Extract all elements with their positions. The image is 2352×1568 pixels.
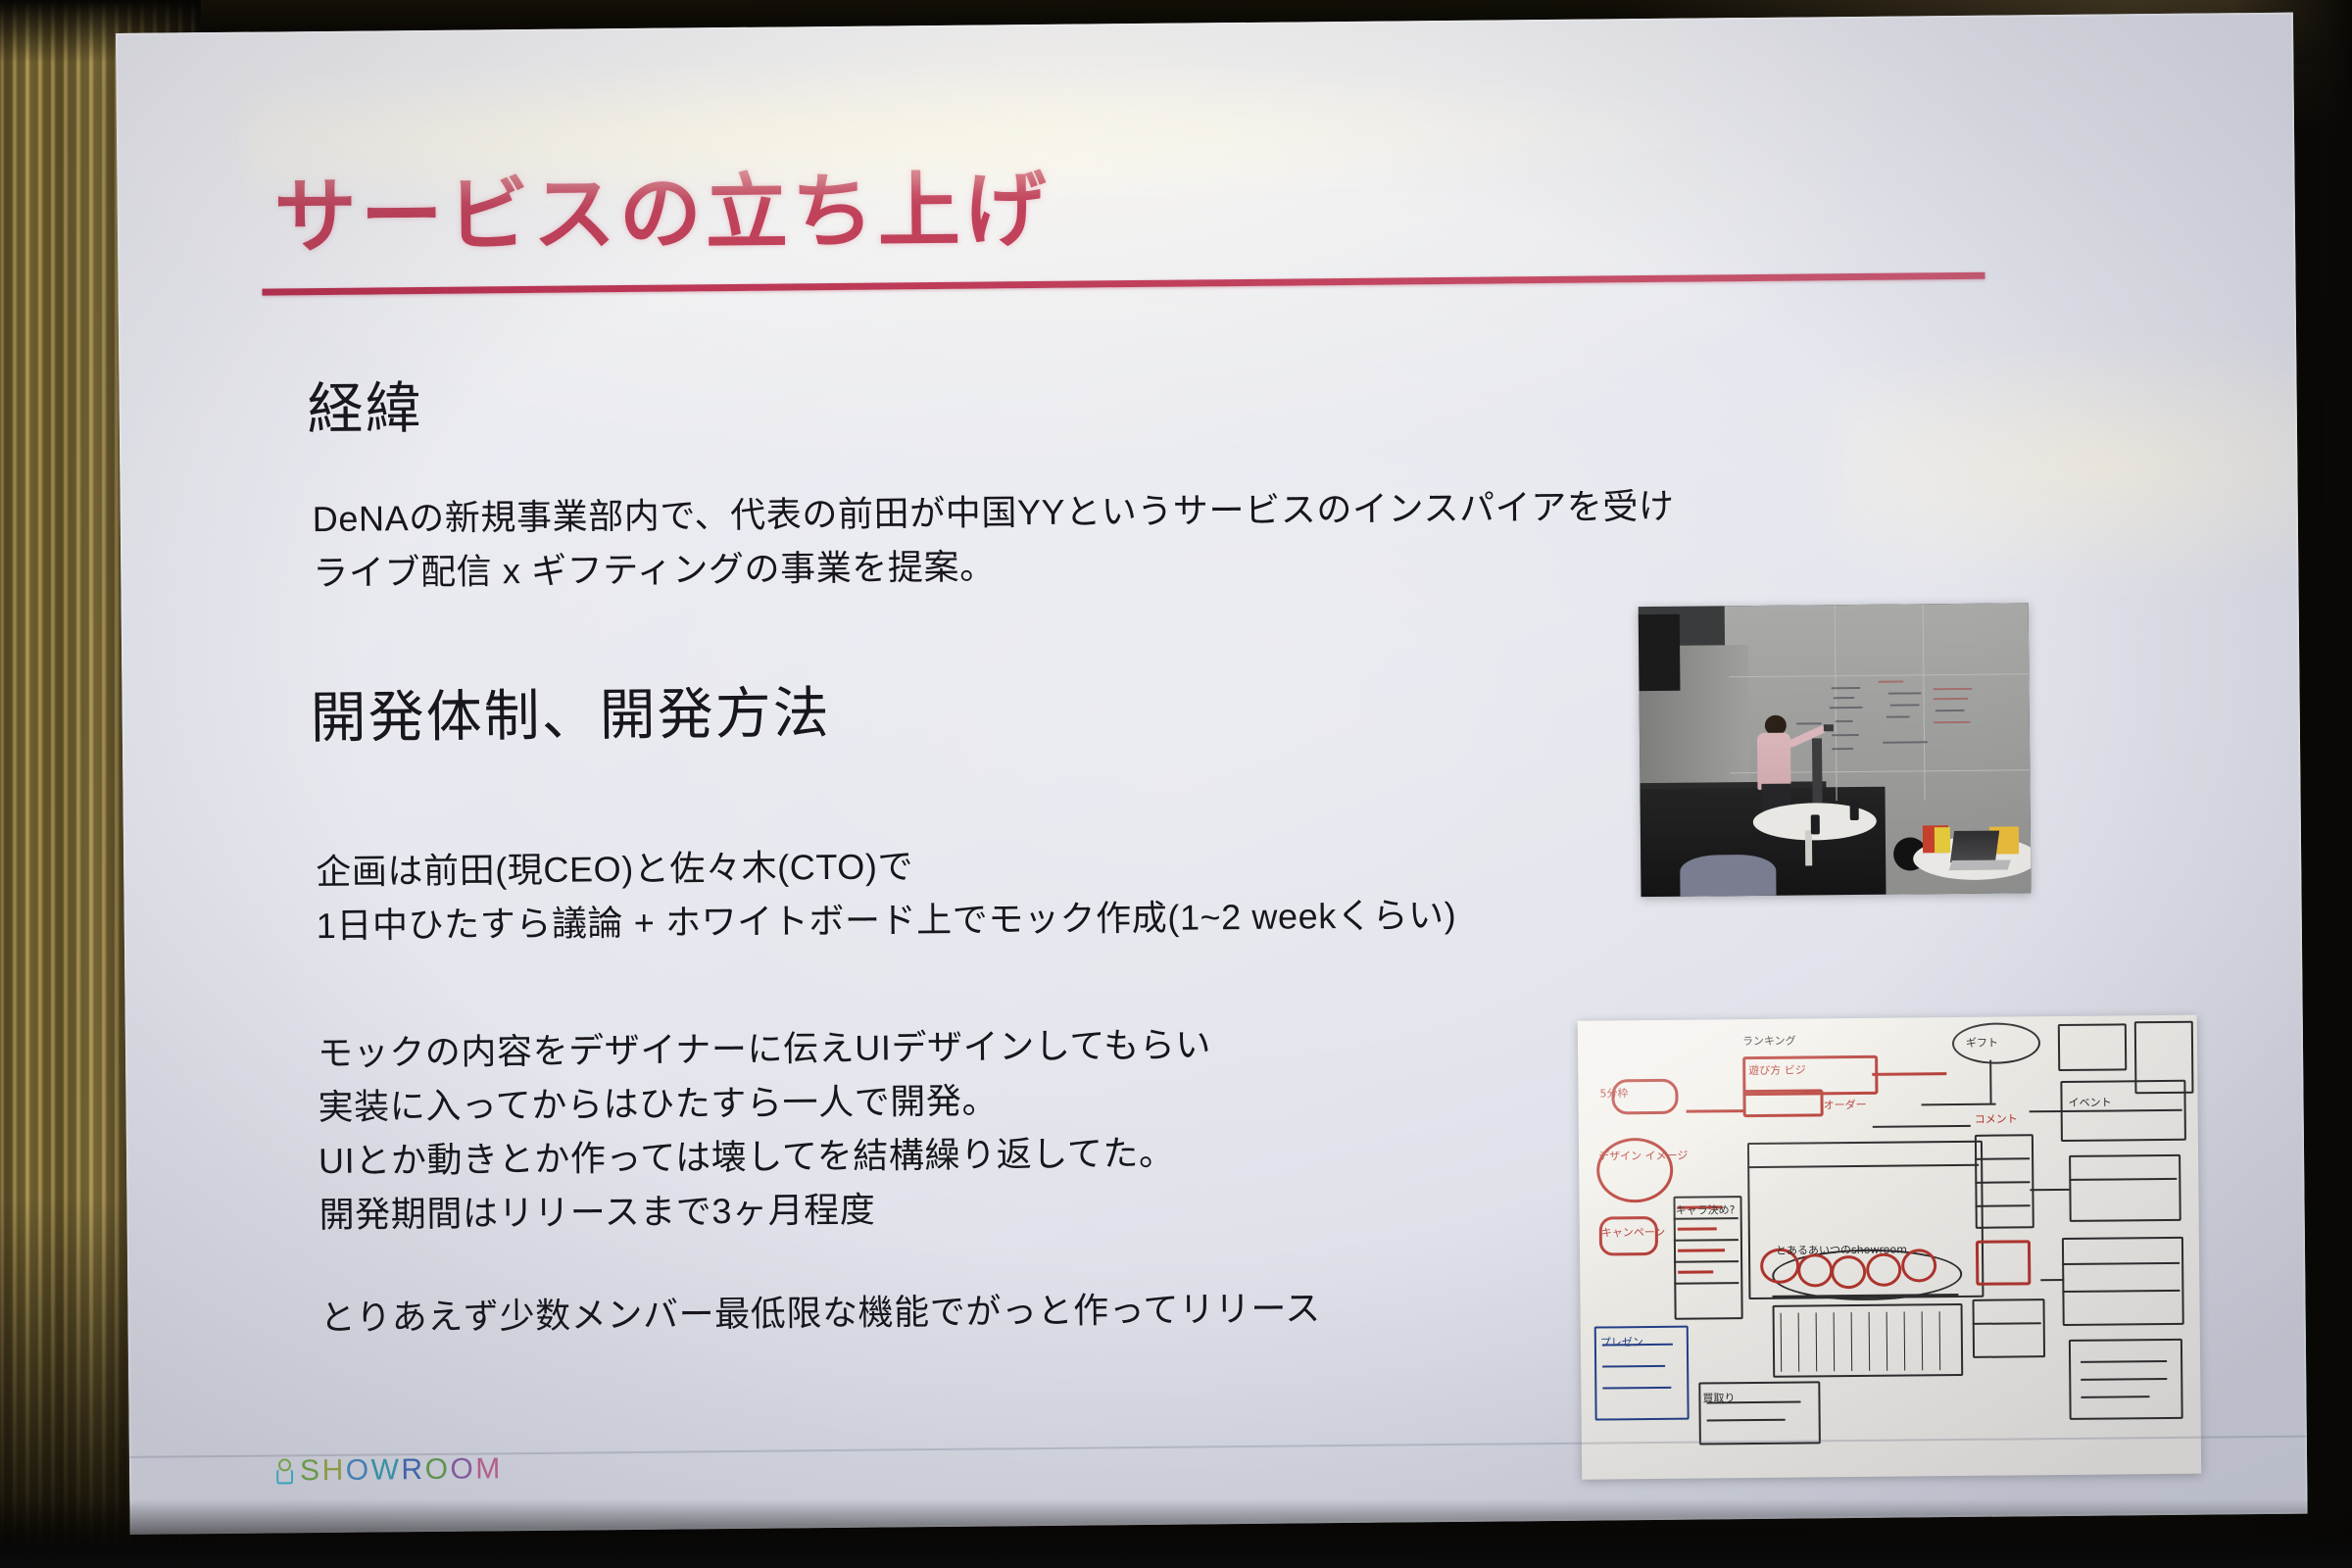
sketch-label-5: コメント [1975,1110,2018,1126]
sketch-label-4: オーダー [1823,1097,1866,1112]
section-body-keii: DeNAの新規事業部内で、代表の前田が中国YYというサービスのインスパイアを受け… [313,479,1676,600]
sketch-label-2: ギフト [1966,1035,1998,1051]
sketch-label-1: 遊び方 ビジ [1748,1061,1806,1078]
section-heading-kaihatsu: 開発体制、開発方法 [310,668,831,754]
sketch-label-7: キャンペーン [1601,1224,1666,1241]
sketch-label-11: プレゼン [1600,1334,1643,1349]
sketch-label-0: 5分枠 [1599,1085,1628,1101]
projection-screen: サービスの立ち上げ 経緯 DeNAの新規事業部内で、代表の前田が中国YYというサ… [116,13,2308,1535]
sketch-label-10: キャラ決め? [1676,1201,1736,1218]
showroom-person-icon [274,1456,291,1486]
showroom-logo-text: SHOWROOM [300,1452,503,1487]
showroom-logo: SHOWROOM [274,1452,503,1488]
paragraph-release: とりあえず少数メンバー最低限な機能でがっと作ってリリース [319,1281,1321,1345]
section-heading-keii: 経緯 [307,364,423,445]
whiteboard-sketch-photo: 5分枠 遊び方 ビジ ギフト とあるあいつのshowroom オーダー コメント… [1578,1015,2201,1480]
sketch-label-3: とあるあいつのshowroom [1776,1242,1907,1258]
slide-content: サービスの立ち上げ 経緯 DeNAの新規事業部内で、代表の前田が中国YYというサ… [116,13,2308,1535]
photo-of-presentation-room: サービスの立ち上げ 経緯 DeNAの新規事業部内で、代表の前田が中国YYというサ… [0,0,2352,1568]
title-underline-rule [263,272,1985,296]
foreground-shadow [0,1531,2352,1568]
paragraph-mock-design: モックの内容をデザイナーに伝えUIデザインしてもらい 実装に入ってからはひたすら… [318,1017,1213,1242]
section-body-kaihatsu: 企画は前田(現CEO)と佐々木(CTO)で 1日中ひたすら議論 + ホワイトボー… [316,834,1457,953]
sketch-label-9: 買取り [1702,1390,1735,1405]
sketch-label-8: イベント [2068,1095,2111,1110]
whiteboard-room-photo [1639,603,2032,897]
slide-title: サービスの立ち上げ [273,144,1051,270]
sketch-label-6: デザイン イメージ [1598,1148,1688,1164]
sketch-label-12: ランキング [1742,1033,1796,1050]
